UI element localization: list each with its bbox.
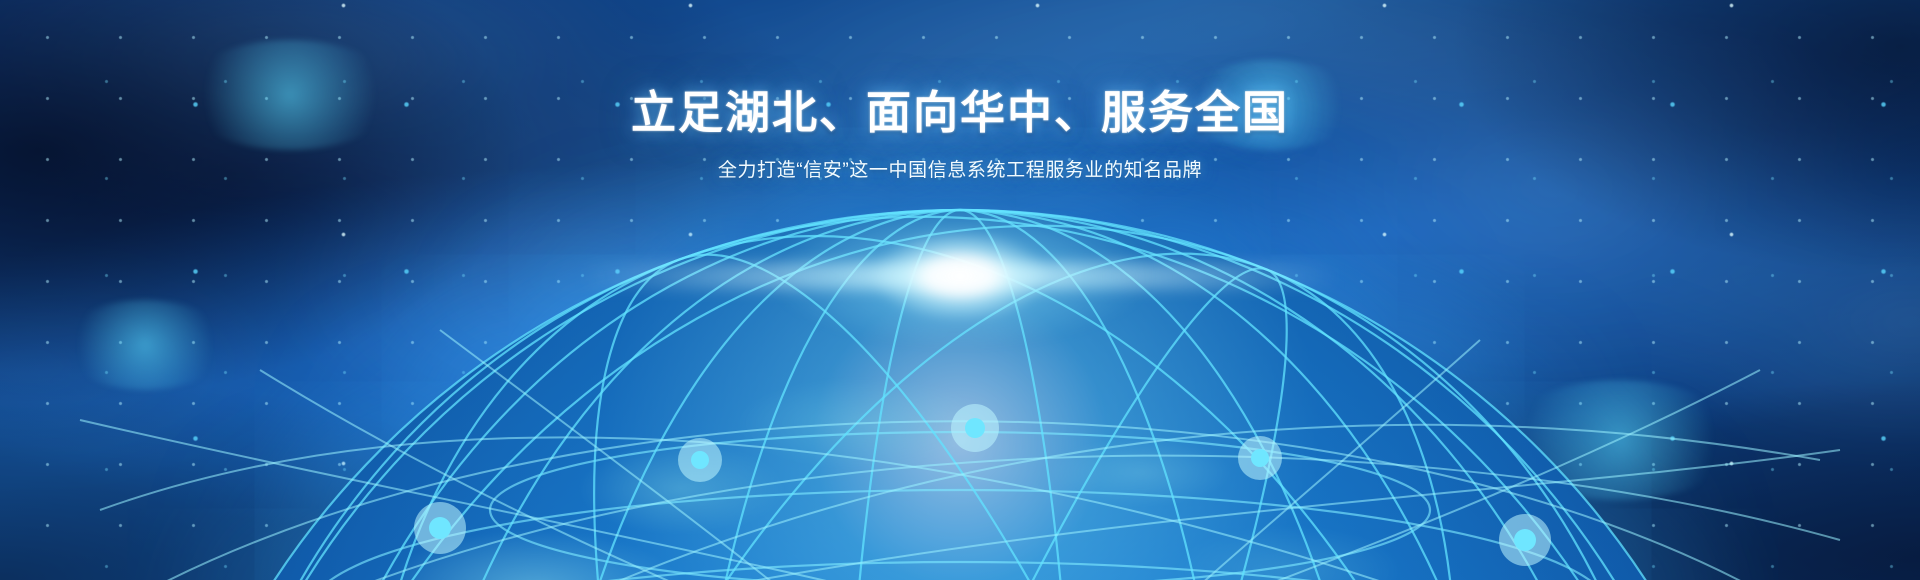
star-cluster-icon [60, 300, 230, 390]
banner-copy: 立足湖北、面向华中、服务全国 全力打造“信安”这一中国信息系统工程服务业的知名品… [0, 86, 1920, 182]
banner-subline: 全力打造“信安”这一中国信息系统工程服务业的知名品牌 [0, 155, 1920, 182]
star-cluster-icon [1500, 380, 1740, 500]
hero-banner: 立足湖北、面向华中、服务全国 全力打造“信安”这一中国信息系统工程服务业的知名品… [0, 0, 1920, 580]
banner-headline: 立足湖北、面向华中、服务全国 [0, 86, 1920, 139]
